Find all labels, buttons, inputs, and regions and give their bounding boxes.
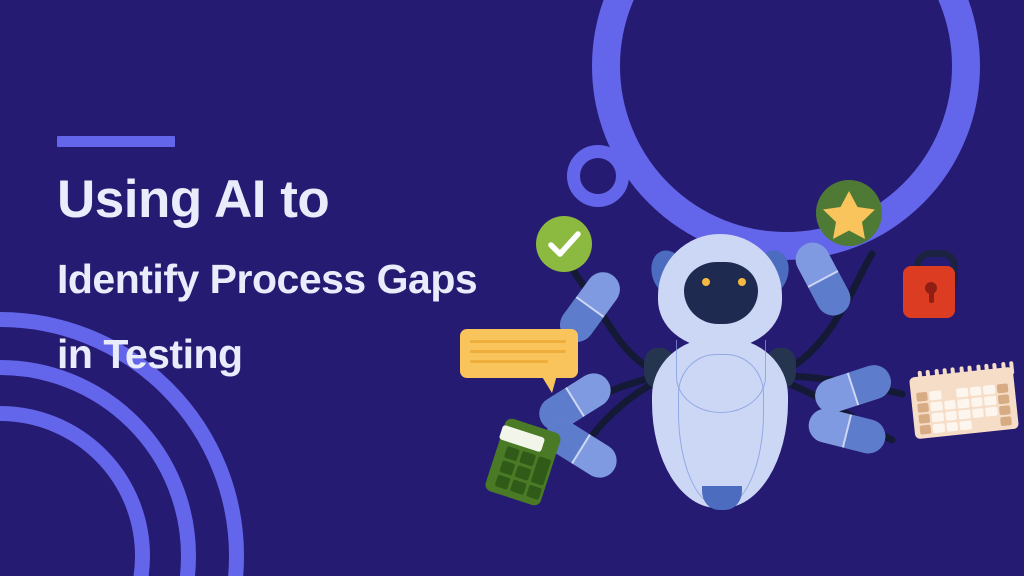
slide-canvas: Using AI to Identify Process Gaps in Tes…	[0, 0, 1024, 576]
robot-visor	[684, 262, 758, 324]
check-badge	[536, 216, 592, 272]
speech-bubble-line	[470, 340, 566, 343]
ai-robot-mascot	[630, 228, 810, 518]
speech-bubble-icon	[460, 329, 578, 378]
star-icon	[816, 180, 882, 246]
robot-eye-right-icon	[738, 278, 746, 286]
padlock-keyhole-stem	[929, 291, 934, 303]
speech-bubble-line	[470, 360, 548, 363]
robot-eye-left-icon	[702, 278, 710, 286]
speech-bubble-line	[470, 350, 566, 353]
checkmark-icon	[536, 216, 592, 272]
star-badge	[816, 180, 882, 246]
robot-base	[702, 486, 742, 510]
